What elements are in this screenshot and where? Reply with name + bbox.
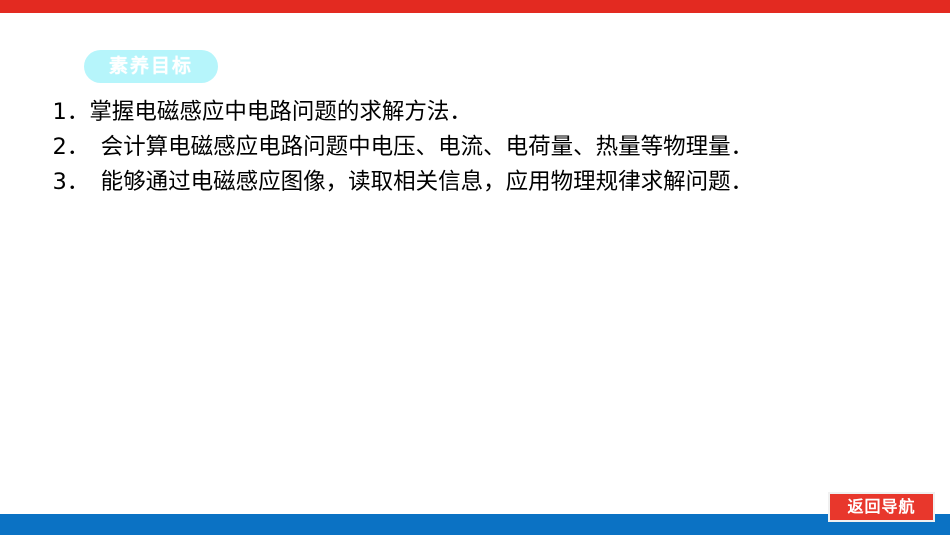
return-to-navigation-label: 返回导航 xyxy=(847,499,915,515)
objective-item-1: 1．掌握电磁感应中电路问题的求解方法． xyxy=(30,95,910,130)
section-badge: 素养目标 xyxy=(84,50,218,83)
top-red-band xyxy=(0,0,950,13)
objective-item-3: 3． 能够通过电磁感应图像，读取相关信息，应用物理规律求解问题． xyxy=(30,165,910,200)
section-badge-label: 素养目标 xyxy=(109,57,193,76)
bottom-blue-band xyxy=(0,514,950,535)
objective-item-2: 2． 会计算电磁感应电路问题中电压、电流、电荷量、热量等物理量． xyxy=(30,130,910,165)
return-to-navigation-button[interactable]: 返回导航 xyxy=(828,492,935,522)
objectives-list: 1．掌握电磁感应中电路问题的求解方法． 2． 会计算电磁感应电路问题中电压、电流… xyxy=(30,95,910,200)
